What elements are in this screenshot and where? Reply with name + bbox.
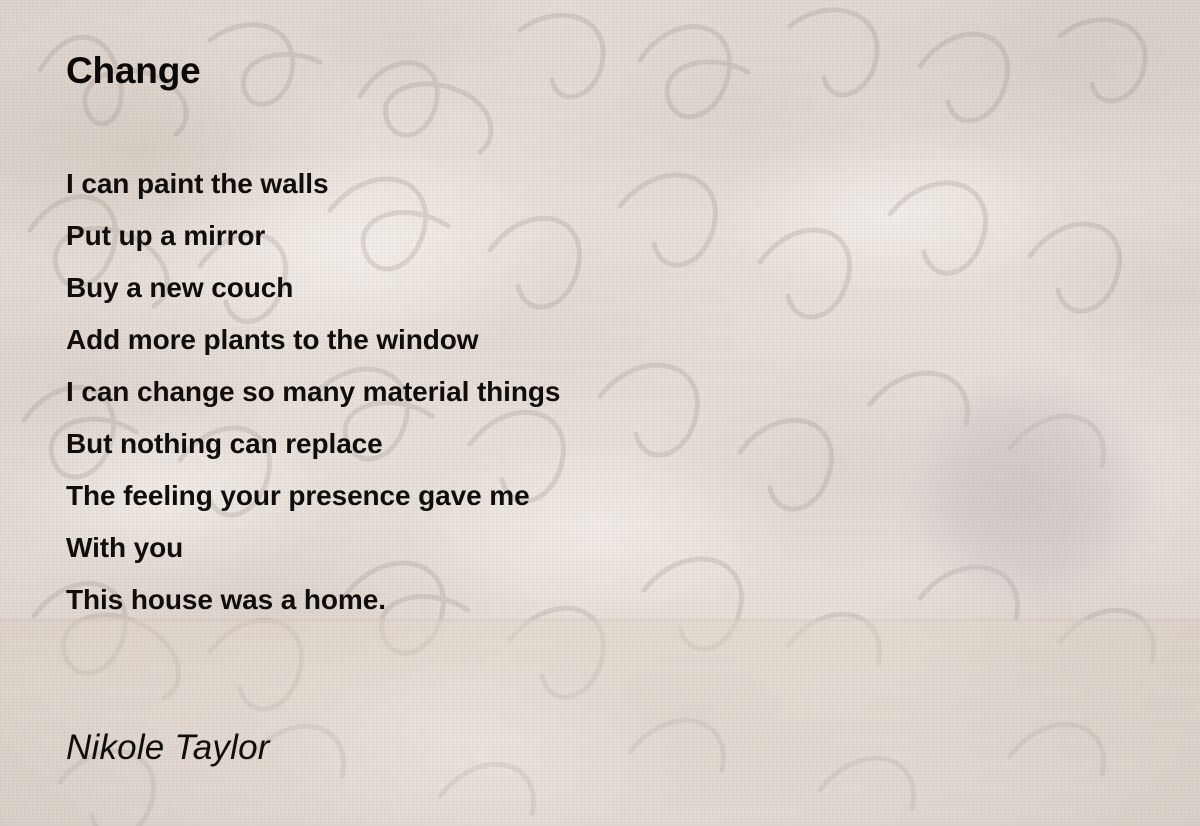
poem-line: This house was a home.	[66, 574, 966, 626]
poem-line: But nothing can replace	[66, 418, 966, 470]
poem-line: I can change so many material things	[66, 366, 966, 418]
poem-line: Put up a mirror	[66, 210, 966, 262]
poem-line: Buy a new couch	[66, 262, 966, 314]
poem-stanza: I can paint the walls Put up a mirror Bu…	[66, 158, 966, 626]
poem-line: I can paint the walls	[66, 158, 966, 210]
poem-author-signature: Nikole Taylor	[66, 727, 270, 769]
poem-content: Change I can paint the walls Put up a mi…	[0, 0, 1200, 826]
poem-line: The feeling your presence gave me	[66, 470, 966, 522]
poem-line: With you	[66, 522, 966, 574]
poem-line: Add more plants to the window	[66, 314, 966, 366]
poem-image-card: Change I can paint the walls Put up a mi…	[0, 0, 1200, 826]
poem-title: Change	[66, 52, 200, 89]
